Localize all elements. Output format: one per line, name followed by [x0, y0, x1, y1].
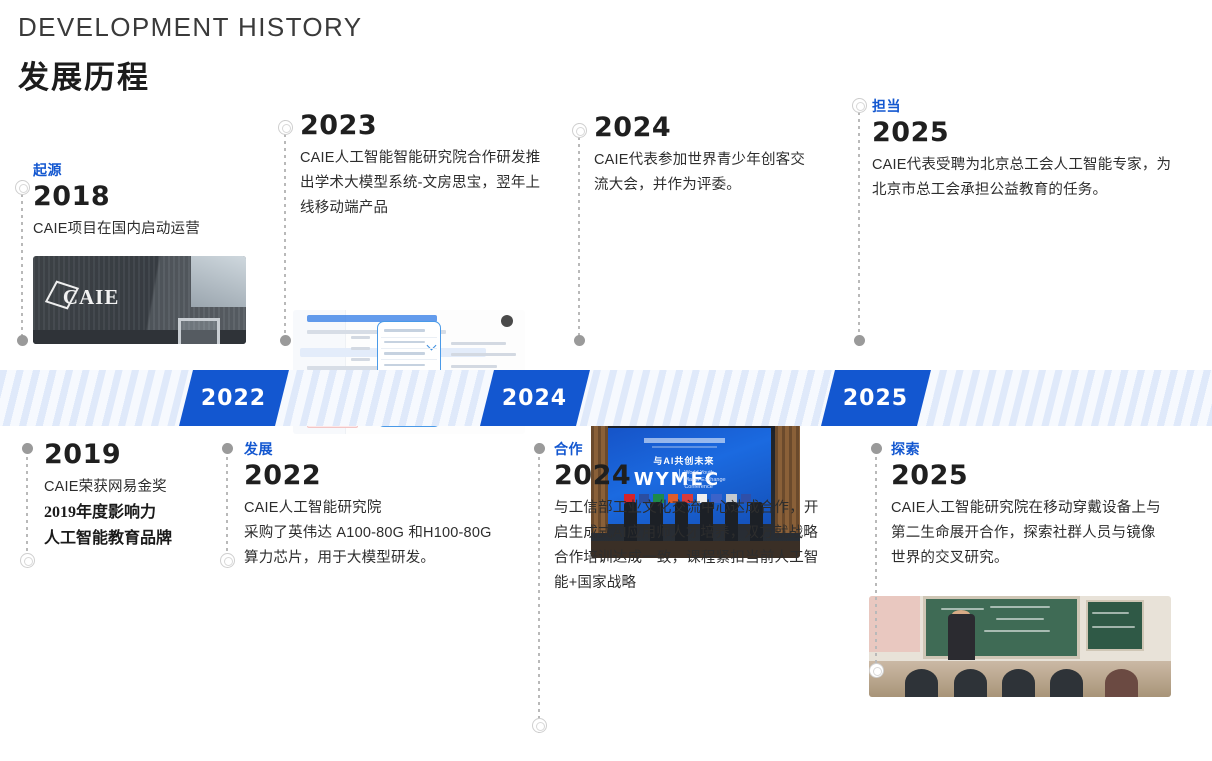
page-title-chinese: 发展历程 [18, 52, 150, 97]
dotted-line [284, 120, 286, 346]
connector-rail-2025-bottom [868, 443, 884, 678]
dotted-line [538, 443, 540, 733]
decorative-year-band: 2022 2024 2025 [0, 370, 1212, 426]
building-entrance [178, 318, 221, 344]
solid-dot-icon [871, 443, 882, 454]
chalk-writing [1092, 612, 1128, 614]
entry-year: 2022 [244, 460, 524, 492]
hollow-dot-icon [572, 123, 587, 138]
connector-rail-2025-top [851, 98, 867, 346]
entry-tag: 起源 [33, 161, 258, 179]
dotted-line [21, 180, 23, 346]
timeline-entry-2024-top[interactable]: 2024 CAIE代表参加世界青少年创客交流大会，并作为评委。 [594, 110, 809, 198]
timeline-entry-2018[interactable]: 起源 2018 CAIE项目在国内启动运营 [33, 161, 258, 242]
hollow-dot-icon [532, 718, 547, 733]
entry-tag: 发展 [244, 440, 524, 458]
avatar[interactable] [501, 315, 513, 327]
entry-description: 与工信部工业文化交流中心达成合作，开启生成式AI应用师人才培养，双方就战略合作培… [554, 496, 824, 596]
band-year-2025: 2025 [821, 370, 931, 426]
dotted-line [578, 123, 580, 346]
ui-list-row [351, 347, 370, 350]
modal-divider [381, 359, 438, 360]
ui-content-line [451, 365, 497, 368]
connector-rail-2023 [277, 120, 293, 346]
dotted-line [226, 443, 228, 568]
sky-area [191, 256, 246, 307]
chalkboard-secondary [1086, 600, 1143, 651]
solid-dot-icon [854, 335, 865, 346]
entry-description: CAIE代表受聘为北京总工会人工智能专家，为北京市总工会承担公益教育的任务。 [872, 153, 1172, 203]
modal-option[interactable] [384, 364, 426, 367]
band-year-label: 2022 [201, 386, 266, 411]
band-year-label: 2024 [502, 386, 567, 411]
band-year-2024: 2024 [480, 370, 590, 426]
entry-year: 2025 [891, 460, 1161, 492]
solid-dot-icon [574, 335, 585, 346]
modal-divider [381, 337, 438, 338]
connector-rail-2018 [14, 180, 30, 346]
band-year-label: 2025 [843, 386, 908, 411]
student-figure [1105, 669, 1138, 697]
page-title-english: DEVELOPMENT HISTORY [18, 12, 362, 43]
modal-option[interactable] [384, 341, 426, 344]
modal-divider [381, 348, 438, 349]
timeline-entry-2022[interactable]: 发展 2022 CAIE人工智能研究院 采购了英伟达 A100-80G 和H10… [244, 440, 524, 571]
hollow-dot-icon [869, 663, 884, 678]
timeline-page: DEVELOPMENT HISTORY 发展历程 起源 2018 CAIE项目在… [0, 0, 1212, 761]
entry-year: 2025 [872, 117, 1172, 149]
ui-content-line [451, 342, 507, 345]
connector-rail-2024-bottom [531, 443, 547, 733]
chalk-writing [996, 618, 1044, 620]
timeline-entry-2023[interactable]: 2023 CAIE人工智能智能研究院合作研发推出学术大模型系统-文房思宝，翌年上… [300, 108, 550, 221]
dotted-line [858, 98, 860, 346]
entry-description: CAIE代表参加世界青少年创客交流大会，并作为评委。 [594, 148, 809, 198]
solid-dot-icon [17, 335, 28, 346]
timeline-entry-2025-bottom[interactable]: 探索 2025 CAIE人工智能研究院在移动穿戴设备上与第二生命展开合作，探索社… [891, 440, 1161, 571]
ui-list-row [351, 336, 370, 339]
hollow-dot-icon [852, 98, 867, 113]
connector-rail-2022 [219, 443, 235, 568]
chalk-writing [1092, 626, 1134, 628]
hollow-dot-icon [20, 553, 35, 568]
connector-rail-2019 [19, 443, 35, 568]
student-figure [1050, 669, 1083, 697]
modal-option[interactable] [384, 352, 426, 355]
entry-tag: 合作 [554, 440, 824, 458]
connector-rail-2024-top [571, 123, 587, 346]
chalk-writing [984, 630, 1050, 632]
caie-logo-text: CAIE [63, 285, 120, 310]
ui-list-row [351, 358, 370, 361]
entry-year: 2019 [44, 439, 244, 471]
hollow-dot-icon [220, 553, 235, 568]
dotted-line [26, 443, 28, 568]
timeline-entry-2025-top[interactable]: 担当 2025 CAIE代表受聘为北京总工会人工智能专家，为北京市总工会承担公益… [872, 97, 1172, 203]
solid-dot-icon [280, 335, 291, 346]
entry-tag: 担当 [872, 97, 1172, 115]
entry-award-title: 2019年度影响力 人工智能教育品牌 [44, 500, 244, 552]
hollow-dot-icon [278, 120, 293, 135]
entry-year: 2023 [300, 110, 550, 142]
entry-year: 2024 [594, 112, 809, 144]
entry-description: CAIE荣获网易金奖 [44, 475, 244, 500]
entry-description: CAIE人工智能研究院 采购了英伟达 A100-80G 和H100-80G 算力… [244, 496, 524, 571]
entry-year: 2024 [554, 460, 824, 492]
timeline-entry-2024-bottom[interactable]: 合作 2024 与工信部工业文化交流中心达成合作，开启生成式AI应用师人才培养，… [554, 440, 824, 596]
entry-year: 2018 [33, 181, 258, 213]
entry-description: CAIE项目在国内启动运营 [33, 217, 258, 242]
entry-tag: 探索 [891, 440, 1161, 458]
entry-description: CAIE人工智能研究院在移动穿戴设备上与第二生命展开合作，探索社群人员与镜像世界… [891, 496, 1161, 571]
hollow-dot-icon [15, 180, 30, 195]
student-figure [954, 669, 987, 697]
modal-option[interactable] [384, 329, 426, 332]
student-figure [905, 669, 938, 697]
student-figure [1002, 669, 1035, 697]
teacher-figure [948, 614, 975, 659]
solid-dot-icon [222, 443, 233, 454]
classroom-teaching-photo[interactable] [869, 596, 1171, 697]
band-year-2022: 2022 [179, 370, 289, 426]
timeline-entry-2019[interactable]: 2019 CAIE荣获网易金奖 2019年度影响力 人工智能教育品牌 [44, 437, 244, 552]
solid-dot-icon [534, 443, 545, 454]
chalk-writing [990, 606, 1050, 608]
solid-dot-icon [22, 443, 33, 454]
dotted-line [875, 443, 877, 678]
caie-building-photo[interactable]: CAIE [33, 256, 246, 344]
ui-content-line [451, 353, 516, 356]
entry-description: CAIE人工智能智能研究院合作研发推出学术大模型系统-文房思宝，翌年上线移动端产… [300, 146, 550, 221]
